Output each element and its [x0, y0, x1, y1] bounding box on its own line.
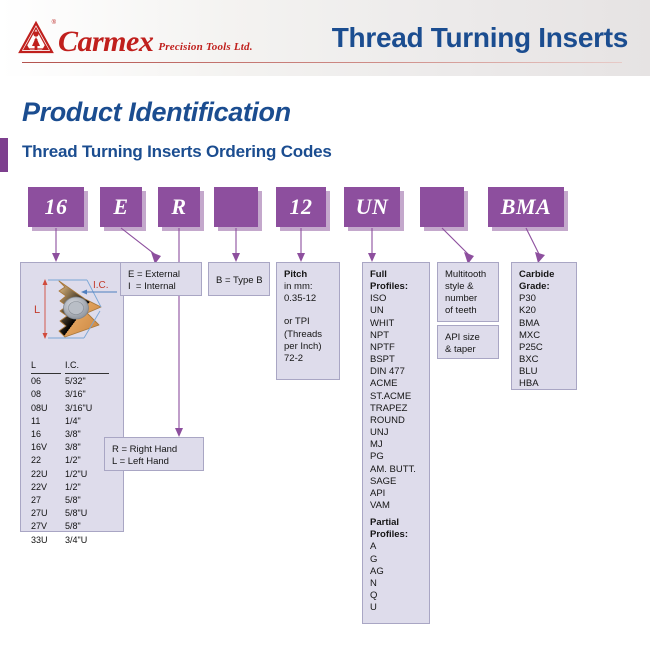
cell-ic: 3/4"U — [65, 534, 117, 547]
cell-l: 27U — [31, 507, 65, 520]
multitooth-line-2: style & — [445, 281, 491, 293]
cell-ic: 1/2" — [65, 481, 117, 494]
type-box: B = Type B — [208, 262, 270, 296]
accent-tab — [0, 138, 8, 172]
profile-item: BSPT — [370, 354, 422, 366]
hand-box: R = Right Hand L = Left Hand — [104, 437, 204, 471]
pitch-line-2: 0.35-12 — [284, 293, 332, 305]
code-box-profile[interactable]: UN — [344, 187, 400, 227]
table-row: 275/8" — [31, 494, 117, 507]
profile-item: ISO — [370, 293, 422, 305]
profiles-box: Full Profiles: ISO UN WHIT NPT NPTF BSPT… — [362, 262, 430, 624]
grade-item: P30 — [519, 293, 569, 305]
grade-item: BXC — [519, 354, 569, 366]
profile-item: WHIT — [370, 318, 422, 330]
profile-item: ROUND — [370, 415, 422, 427]
api-line-1: API size — [445, 332, 491, 344]
insert-illustration-icon: L I.C. — [21, 267, 123, 359]
pitch-box: Pitch in mm: 0.35-12 or TPI (Threads per… — [276, 262, 340, 380]
table-row: 065/32" — [31, 375, 117, 388]
grade-item: HBA — [519, 378, 569, 390]
page-header: ® Carmex Precision Tools Ltd. Thread Tur… — [0, 0, 650, 76]
carbide-grade-box: Carbide Grade: P30 K20 BMA MXC P25C BXC … — [511, 262, 577, 390]
grade-item: P25C — [519, 342, 569, 354]
cell-l: 16 — [31, 428, 65, 441]
cell-ic: 5/8"U — [65, 507, 117, 520]
table-row: 22V1/2" — [31, 481, 117, 494]
grade-item: BLU — [519, 366, 569, 378]
cell-ic: 3/16"U — [65, 402, 117, 415]
registered-mark: ® — [52, 20, 56, 26]
column-header-ic: I.C. — [65, 359, 109, 374]
pitch-line-3: or TPI — [284, 316, 332, 328]
profile-item: NPT — [370, 330, 422, 342]
multitooth-line-3: number — [445, 293, 491, 305]
pitch-spacer — [284, 305, 332, 316]
code-box-size[interactable]: 16 — [28, 187, 84, 227]
grade-item: K20 — [519, 305, 569, 317]
table-row: 08U3/16"U — [31, 402, 117, 415]
code-box-external-internal[interactable]: E — [100, 187, 142, 227]
cell-l: 33U — [31, 534, 65, 547]
profile-item: MJ — [370, 439, 422, 451]
pitch-line-6: 72-2 — [284, 353, 332, 365]
insert-dimension-panel: L I.C. L I.C. 065/32" 083/16" 08U3/16"U … — [20, 262, 124, 532]
profile-item: API — [370, 488, 422, 500]
code-box-type[interactable] — [214, 187, 258, 227]
external-internal-box: E = External I = Internal — [120, 262, 202, 296]
brand-tagline: Precision Tools Ltd. — [158, 41, 252, 53]
grade-title-1: Carbide — [519, 269, 569, 281]
section-subheading: Thread Turning Inserts Ordering Codes — [22, 142, 332, 162]
column-header-l: L — [31, 359, 61, 374]
profile-item: DIN 477 — [370, 366, 422, 378]
cell-ic: 5/8" — [65, 494, 117, 507]
profile-item: UNJ — [370, 427, 422, 439]
table-row: 27U5/8"U — [31, 507, 117, 520]
profile-item: ST.ACME — [370, 391, 422, 403]
header-divider — [22, 62, 622, 63]
profile-item: VAM — [370, 500, 422, 512]
cell-l: 27V — [31, 520, 65, 533]
profile-item: PG — [370, 451, 422, 463]
cell-l: 16V — [31, 441, 65, 454]
grade-item: BMA — [519, 318, 569, 330]
hand-line-2: L = Left Hand — [112, 456, 196, 468]
hand-line-1: R = Right Hand — [112, 444, 196, 456]
brand-wordmark: Carmex — [58, 28, 153, 57]
pitch-line-5: per Inch) — [284, 341, 332, 353]
api-line-2: & taper — [445, 344, 491, 356]
partial-profile-item: AG — [370, 566, 422, 578]
cell-l: 22 — [31, 454, 65, 467]
cell-ic: 5/8" — [65, 520, 117, 533]
code-box-hand[interactable]: R — [158, 187, 200, 227]
svg-text:L: L — [34, 304, 40, 316]
table-row: 27V5/8" — [31, 520, 117, 533]
api-box: API size & taper — [437, 325, 499, 359]
table-header-row: L I.C. — [31, 359, 117, 375]
cell-ic: 5/32" — [65, 375, 117, 388]
partial-profile-item: A — [370, 541, 422, 553]
code-box-grade[interactable]: BMA — [488, 187, 564, 227]
pitch-line-1: in mm: — [284, 281, 332, 293]
pitch-title: Pitch — [284, 269, 332, 281]
code-box-multitooth[interactable] — [420, 187, 464, 227]
multitooth-box: Multitooth style & number of teeth — [437, 262, 499, 322]
cell-l: 27 — [31, 494, 65, 507]
cell-l: 22V — [31, 481, 65, 494]
carmex-logo: ® Carmex Precision Tools Ltd. — [18, 20, 253, 56]
partial-profile-item: U — [370, 602, 422, 614]
partial-profiles-title-1: Partial — [370, 517, 422, 529]
ei-line-2: I = Internal — [128, 281, 194, 293]
partial-profile-item: Q — [370, 590, 422, 602]
cell-ic: 1/4" — [65, 415, 117, 428]
profile-item: ACME — [370, 378, 422, 390]
pitch-line-4: (Threads — [284, 329, 332, 341]
ei-line-1: E = External — [128, 269, 194, 281]
table-row: 111/4" — [31, 415, 117, 428]
cell-l: 11 — [31, 415, 65, 428]
partial-profile-item: G — [370, 554, 422, 566]
profile-item: TRAPEZ — [370, 403, 422, 415]
profile-item: UN — [370, 305, 422, 317]
grade-item: MXC — [519, 330, 569, 342]
multitooth-line-1: Multitooth — [445, 269, 491, 281]
full-profiles-title-2: Profiles: — [370, 281, 422, 293]
profile-item: NPTF — [370, 342, 422, 354]
section-heading: Product Identification — [22, 97, 291, 128]
full-profiles-title-1: Full — [370, 269, 422, 281]
cell-l: 06 — [31, 375, 65, 388]
cell-l: 08 — [31, 388, 65, 401]
grade-title-2: Grade: — [519, 281, 569, 293]
profile-item: AM. BUTT. — [370, 464, 422, 476]
carmex-logo-icon: ® — [18, 20, 54, 56]
cell-l: 08U — [31, 402, 65, 415]
page-title: Thread Turning Inserts — [332, 22, 628, 54]
table-row: 083/16" — [31, 388, 117, 401]
partial-profile-item: N — [370, 578, 422, 590]
code-box-pitch[interactable]: 12 — [276, 187, 326, 227]
type-line-1: B = Type B — [216, 269, 262, 287]
multitooth-line-4: of teeth — [445, 305, 491, 317]
cell-ic: 3/16" — [65, 388, 117, 401]
profile-item: SAGE — [370, 476, 422, 488]
table-row: 33U3/4"U — [31, 534, 117, 547]
cell-l: 22U — [31, 468, 65, 481]
svg-text:I.C.: I.C. — [93, 280, 109, 291]
partial-profiles-title-2: Profiles: — [370, 529, 422, 541]
